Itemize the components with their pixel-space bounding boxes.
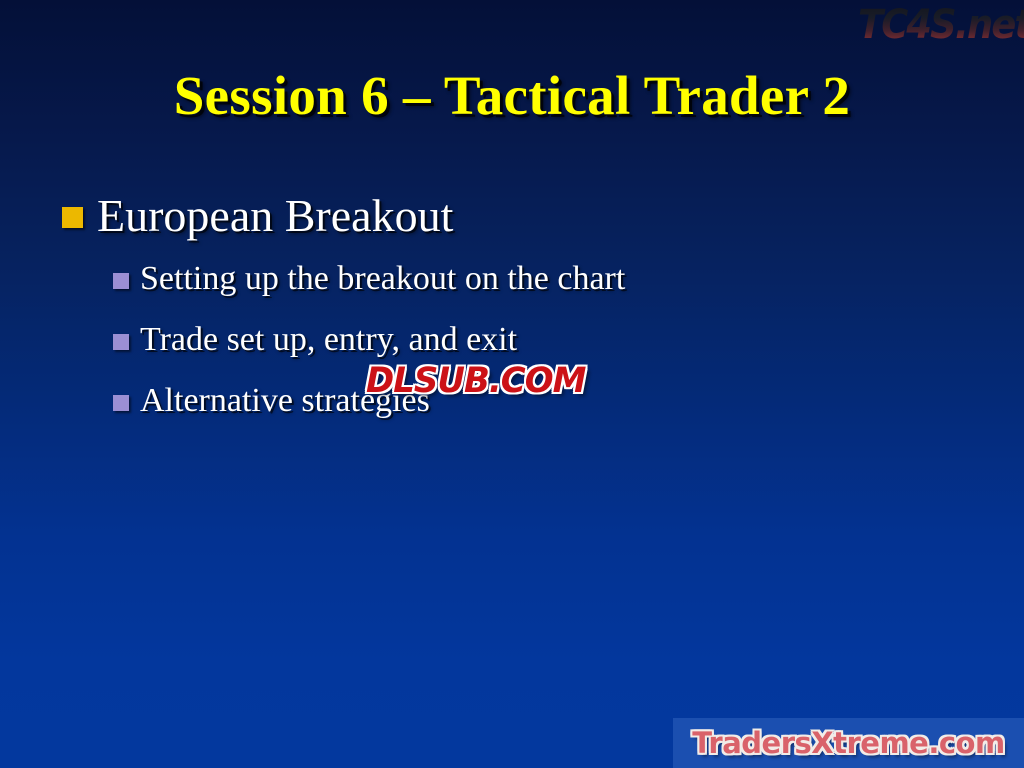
bullet-item-level2: Setting up the breakout on the chart: [0, 260, 1024, 297]
slide-title: Session 6 – Tactical Trader 2: [0, 64, 1024, 127]
watermark-tradersxtreme-label: TradersXtreme.com: [692, 726, 1004, 760]
slide-body: European Breakout Setting up the breakou…: [0, 190, 1024, 444]
bullet-item-level2: Trade set up, entry, and exit: [0, 321, 1024, 358]
watermark-dlsub-logo: DLSUB.COM: [366, 361, 585, 401]
bullet-marker-square-purple: [113, 395, 129, 411]
bullet-marker-square-gold: [62, 207, 83, 228]
watermark-tc4s-logo: TC4S.net: [858, 2, 1024, 48]
bullet-text: Trade set up, entry, and exit: [140, 321, 517, 358]
bullet-item-level1: European Breakout: [0, 190, 1024, 242]
bullet-marker-square-purple: [113, 334, 129, 350]
watermark-tradersxtreme-logo: TradersXtreme.com: [673, 718, 1024, 768]
bullet-text: European Breakout: [97, 190, 453, 242]
presentation-slide: Session 6 – Tactical Trader 2 European B…: [0, 0, 1024, 768]
bullet-marker-square-purple: [113, 273, 129, 289]
bullet-text: Setting up the breakout on the chart: [140, 260, 625, 297]
